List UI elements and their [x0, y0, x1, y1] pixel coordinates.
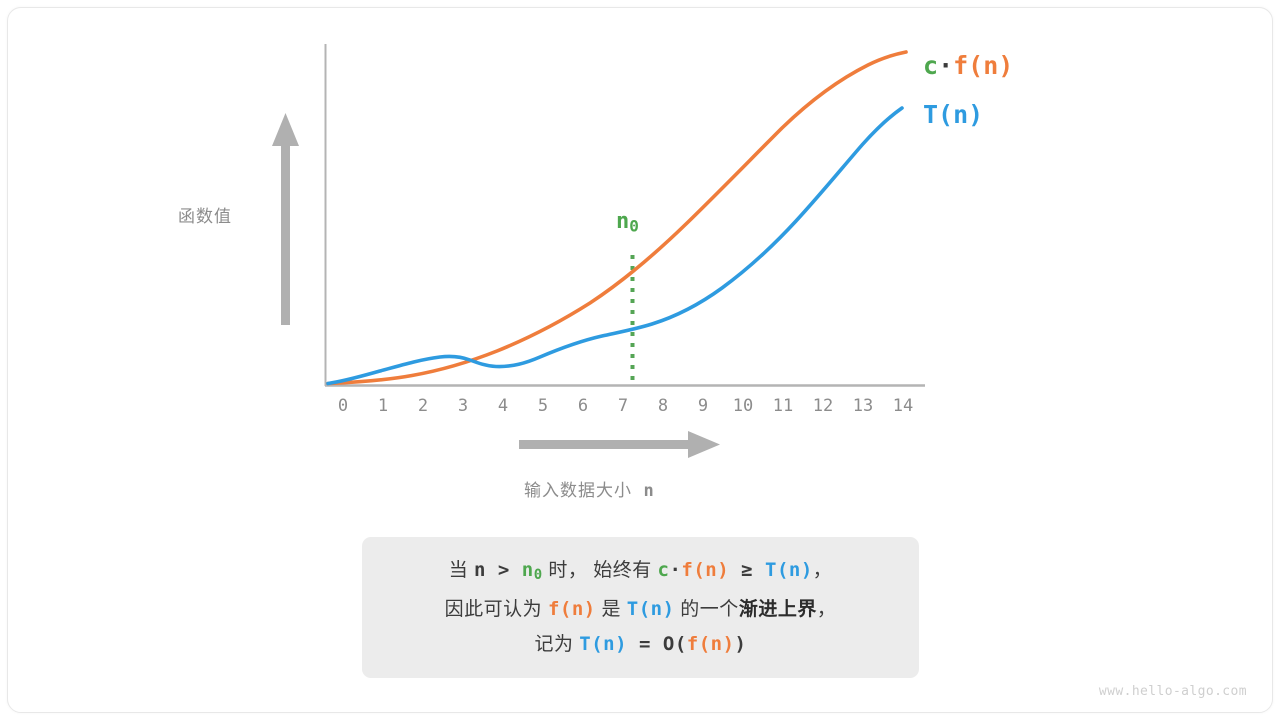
caption1-n0: n0: [522, 559, 543, 581]
x-tick-5: 5: [523, 396, 563, 416]
n0-base: n: [616, 209, 629, 234]
y-axis-arrow: [272, 113, 299, 325]
caption3-eq: =: [627, 633, 663, 655]
caption1-n0-sub: 0: [534, 567, 543, 583]
x-tick-1: 1: [363, 396, 403, 416]
x-axis-label-var: n: [643, 481, 654, 501]
caption2-p3: 的一个: [675, 599, 739, 620]
legend-dot-symbol: ·: [938, 51, 953, 80]
figure-canvas: 0 1 2 3 4 5 6 7 8 9 10 11 12 13 14 函数值 输…: [0, 0, 1280, 720]
x-tick-7: 7: [603, 396, 643, 416]
caption3-big-o: O(: [663, 633, 687, 655]
x-tick-3: 3: [443, 396, 483, 416]
caption3-close: ): [735, 633, 747, 655]
caption1-p3: ，: [813, 560, 833, 581]
x-axis-label-text: 输入数据大小: [524, 481, 632, 500]
caption-line-2: 因此可认为 f(n) 是 T(n) 的一个渐进上界，: [445, 594, 837, 625]
n0-subscript: 0: [629, 217, 639, 236]
caption-line-1: 当 n > n0 时， 始终有 c·f(n) ≥ T(n)，: [449, 555, 833, 590]
caption2-fn: f(n): [548, 598, 596, 620]
caption1-fn: f(n): [681, 559, 729, 581]
caption2-p4: ，: [817, 599, 837, 620]
x-tick-8: 8: [643, 396, 683, 416]
n0-annotation-label: n0: [616, 209, 639, 236]
caption1-n0-base: n: [522, 559, 534, 581]
legend-c-symbol: c: [923, 51, 938, 80]
x-tick-12: 12: [803, 396, 843, 416]
caption-line-3: 记为 T(n) = O(f(n)): [535, 629, 747, 660]
caption1-ge: ≥: [729, 559, 765, 581]
x-tick-0: 0: [323, 396, 363, 416]
x-axis-label: 输入数据大小 n: [524, 476, 655, 501]
caption1-n: n: [474, 559, 486, 581]
caption1-tn: T(n): [765, 559, 813, 581]
x-tick-13: 13: [843, 396, 883, 416]
x-axis-arrow: [519, 431, 720, 458]
legend-f-n-symbol: f(n): [953, 51, 1013, 80]
caption1-p1: 当: [449, 560, 474, 581]
caption2-p2: 是: [596, 599, 627, 620]
caption2-p1: 因此可认为: [445, 599, 548, 620]
curve-t-n: [328, 108, 902, 384]
y-axis-label: 函数值: [178, 202, 232, 227]
caption1-p2: 时， 始终有: [543, 560, 658, 581]
legend-label-t-n: T(n): [923, 100, 983, 129]
x-tick-14: 14: [883, 396, 923, 416]
caption3-tn: T(n): [579, 633, 627, 655]
x-tick-11: 11: [763, 396, 803, 416]
x-tick-9: 9: [683, 396, 723, 416]
caption1-dot: ·: [669, 559, 681, 581]
x-tick-4: 4: [483, 396, 523, 416]
x-tick-2: 2: [403, 396, 443, 416]
caption3-p1: 记为: [535, 634, 580, 655]
caption2-bold-term: 渐进上界: [739, 599, 817, 620]
x-tick-6: 6: [563, 396, 603, 416]
caption-box: 当 n > n0 时， 始终有 c·f(n) ≥ T(n)， 因此可认为 f(n…: [362, 537, 919, 678]
caption1-gt: >: [486, 559, 522, 581]
caption3-fn: f(n): [687, 633, 735, 655]
caption1-c: c: [658, 559, 670, 581]
legend-label-c-f-n: c·f(n): [923, 51, 1013, 80]
caption2-tn: T(n): [627, 598, 675, 620]
x-tick-10: 10: [723, 396, 763, 416]
watermark: www.hello-algo.com: [1099, 684, 1247, 699]
